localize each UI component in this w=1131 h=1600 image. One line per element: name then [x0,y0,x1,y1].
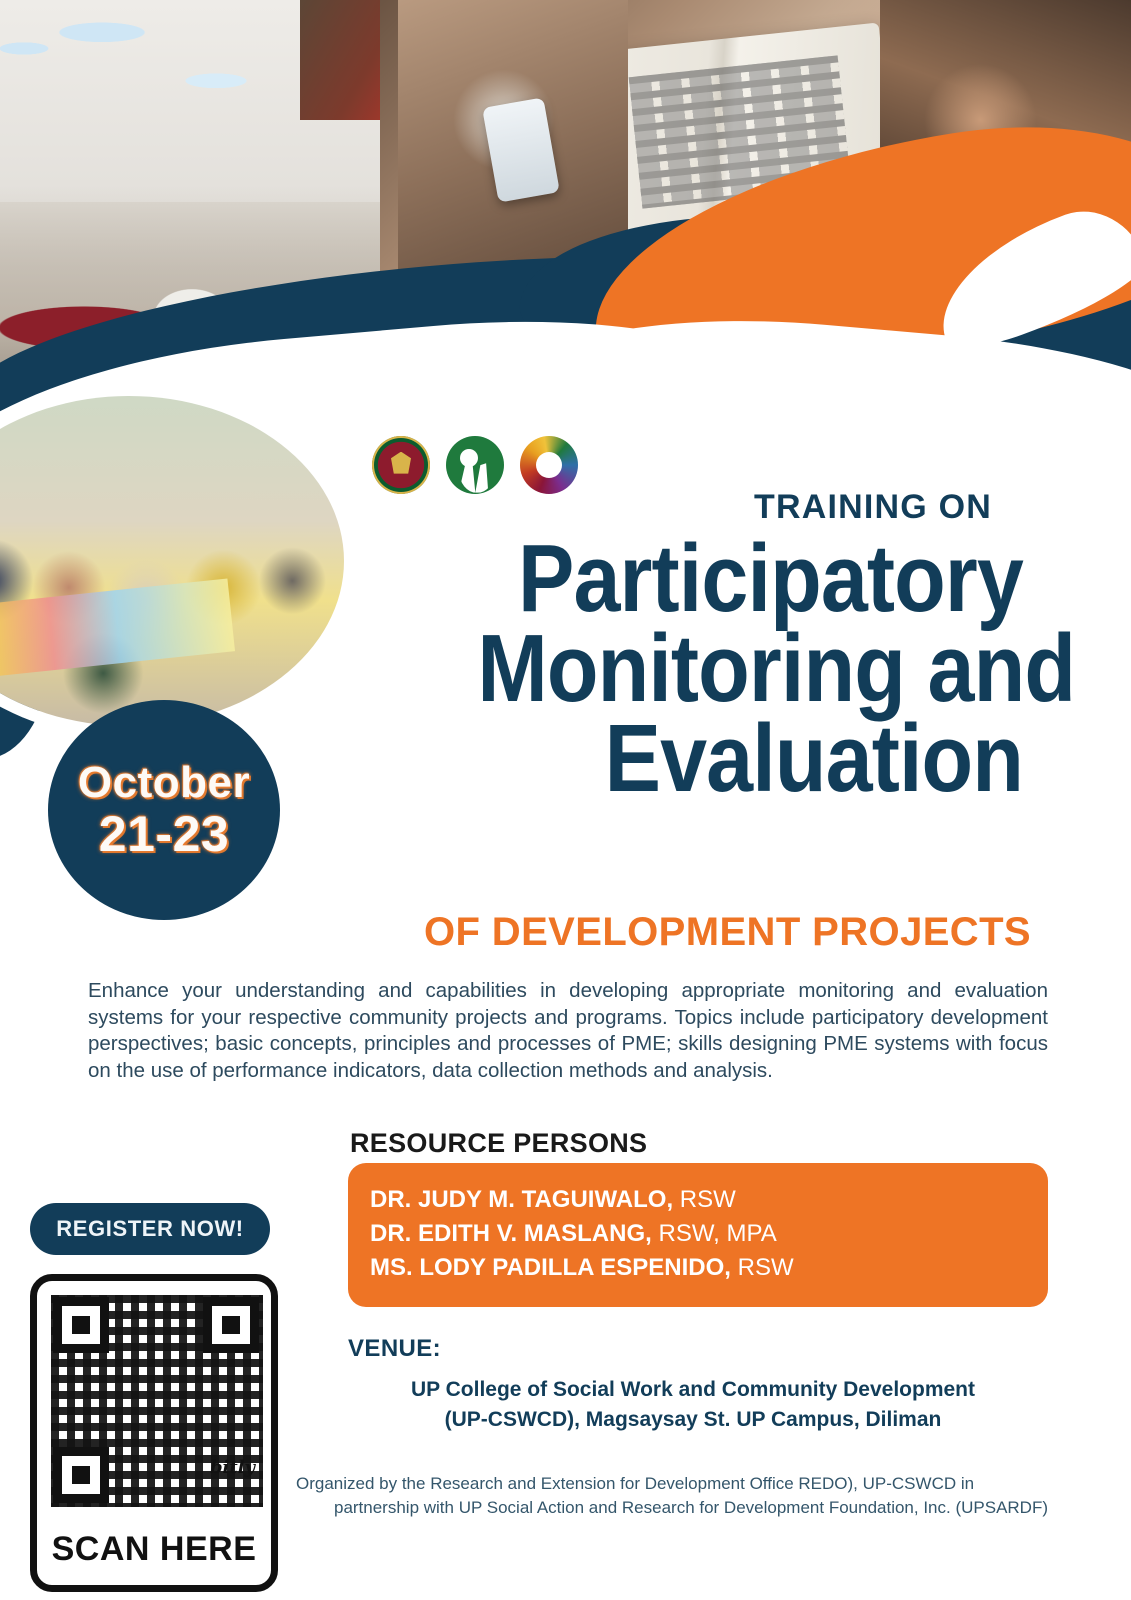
footer-line-2: partnership with UP Social Action and Re… [296,1496,1086,1520]
date-days: 21-23 [99,809,229,859]
page-title: Participatory Monitoring and Evaluation [477,534,1023,805]
resource-persons-card: DR. JUDY M. TAGUIWALO, RSW DR. EDITH V. … [348,1163,1048,1307]
upsardf-logo [520,436,578,494]
qr-frame-notch-left [35,1517,61,1527]
title-line-3: Evaluation [477,714,1023,804]
description-paragraph: Enhance your understanding and capabilit… [88,978,1048,1085]
up-seal-logo [372,436,430,494]
organizer-footer: Organized by the Research and Extension … [296,1472,1086,1520]
register-now-button[interactable]: REGISTER NOW! [30,1203,270,1255]
resource-person-name: DR. EDITH V. MASLANG, [370,1220,652,1247]
poster-root: HURRY! Limited Slots only! October 21-23… [0,0,1131,1600]
title-line-2: Monitoring and [477,624,1023,714]
qr-finder-bottom-left-icon [53,1447,109,1503]
resource-persons-heading: RESOURCE PERSONS [350,1128,647,1159]
resource-person-name: DR. JUDY M. TAGUIWALO, [370,1186,673,1213]
event-date-badge: October 21-23 [48,700,280,920]
resource-person-credentials: RSW [673,1186,736,1213]
organization-logos [372,436,578,494]
training-kicker: TRAINING ON [754,488,992,527]
resource-person-row: DR. JUDY M. TAGUIWALO, RSW [370,1183,1022,1217]
resource-person-name: MS. LODY PADILLA ESPENIDO, [370,1254,731,1281]
date-month: October [78,761,250,805]
venue-line-1: UP College of Social Work and Community … [348,1375,1038,1405]
qr-frame-notch-right [247,1517,273,1527]
venue-address: UP College of Social Work and Community … [348,1375,1038,1436]
qr-code-panel[interactable]: bitly SCAN HERE [30,1274,278,1592]
resource-person-row: MS. LODY PADILLA ESPENIDO, RSW [370,1251,1022,1285]
bitly-wordmark: bitly [210,1457,255,1478]
resource-person-credentials: RSW, MPA [652,1220,777,1247]
page-subtitle: OF DEVELOPMENT PROJECTS [424,910,1031,955]
resource-person-credentials: RSW [731,1254,794,1281]
footer-line-1: Organized by the Research and Extension … [296,1472,1086,1496]
venue-label: VENUE: [348,1335,441,1363]
venue-line-2: (UP-CSWCD), Magsaysay St. UP Campus, Dil… [348,1405,1038,1435]
cswcd-logo [446,436,504,494]
scan-here-label: SCAN HERE [37,1530,271,1569]
resource-person-row: DR. EDITH V. MASLANG, RSW, MPA [370,1217,1022,1251]
qr-finder-top-right-icon [203,1297,259,1353]
qr-finder-top-left-icon [53,1297,109,1353]
title-line-1: Participatory [477,534,1023,624]
